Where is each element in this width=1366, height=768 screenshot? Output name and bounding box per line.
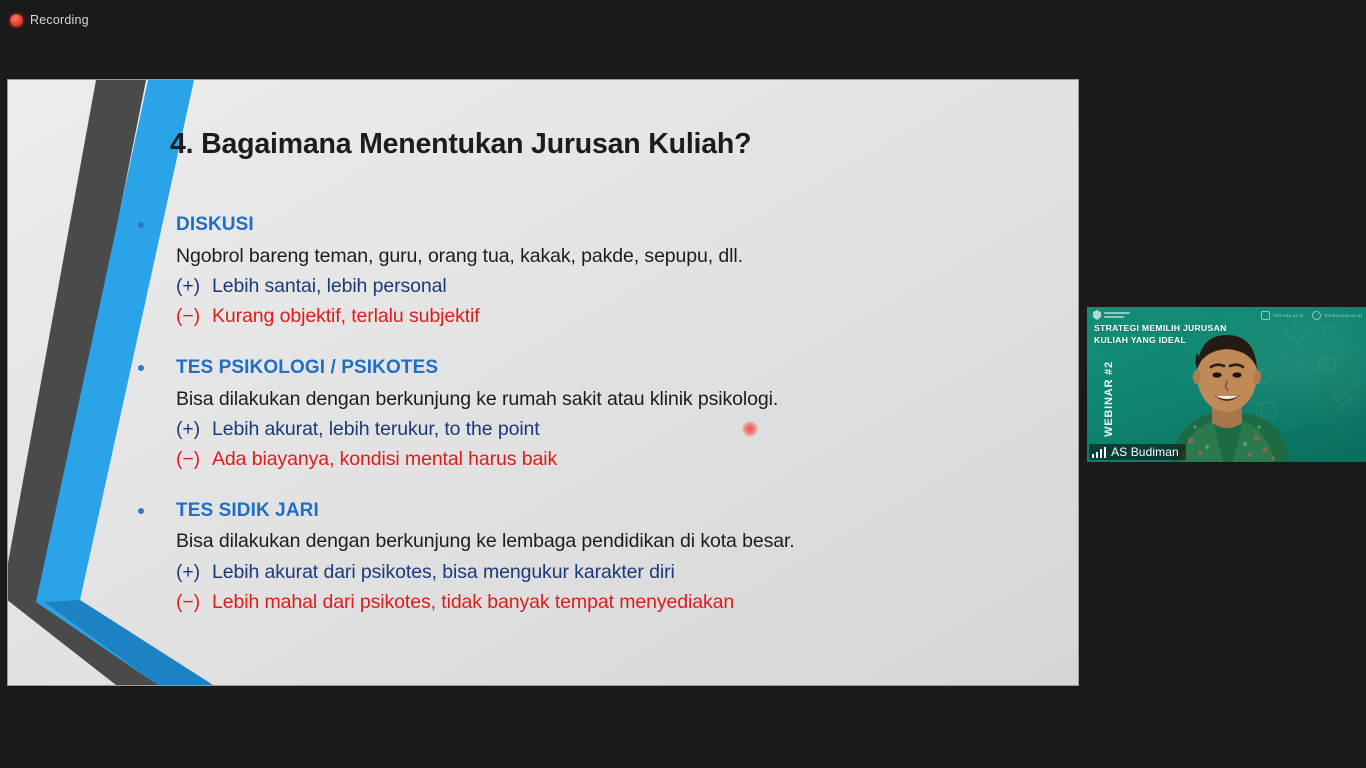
topic-heading: DISKUSI: [176, 212, 1052, 238]
pro-sign: (+): [176, 414, 212, 444]
topic-con: (−) Lebih mahal dari psikotes, tidak ban…: [176, 587, 1052, 617]
recording-indicator: Recording: [10, 10, 89, 30]
pro-sign: (+): [176, 271, 212, 301]
con-sign: (−): [176, 587, 212, 617]
con-text: Kurang objektif, terlalu subjektif: [212, 301, 480, 331]
con-text: Lebih mahal dari psikotes, tidak banyak …: [212, 587, 734, 617]
pro-text: Lebih akurat, lebih terukur, to the poin…: [212, 414, 540, 444]
con-text: Ada biayanya, kondisi mental harus baik: [212, 444, 557, 474]
participant-figure: [1087, 307, 1366, 462]
participant-name: AS Budiman: [1111, 445, 1179, 459]
pro-sign: (+): [176, 557, 212, 587]
meeting-window: Recording 4. Bagaimana Menentukan Jurusa…: [0, 0, 1366, 768]
shared-slide: 4. Bagaimana Menentukan Jurusan Kuliah? …: [8, 80, 1078, 685]
topic-con: (−) Kurang objektif, terlalu subjektif: [176, 301, 1052, 331]
con-sign: (−): [176, 444, 212, 474]
pro-text: Lebih akurat dari psikotes, bisa menguku…: [212, 557, 675, 587]
bullet-icon: [138, 222, 144, 228]
signal-bars-icon: [1092, 447, 1106, 458]
topic-con: (−) Ada biayanya, kondisi mental harus b…: [176, 444, 1052, 474]
recording-dot-icon: [10, 14, 23, 27]
topic-block: TES PSIKOLOGI / PSIKOTES Bisa dilakukan …: [130, 355, 1052, 475]
slide-title: 4. Bagaimana Menentukan Jurusan Kuliah?: [170, 128, 751, 161]
bullet-icon: [138, 508, 144, 514]
participant-nameplate: AS Budiman: [1089, 444, 1186, 460]
topic-heading: TES SIDIK JARI: [176, 498, 1052, 524]
topic-description: Ngobrol bareng teman, guru, orang tua, k…: [176, 241, 1052, 271]
topic-description: Bisa dilakukan dengan berkunjung ke lemb…: [176, 526, 1052, 556]
topic-description: Bisa dilakukan dengan berkunjung ke ruma…: [176, 384, 1052, 414]
pro-text: Lebih santai, lebih personal: [212, 271, 447, 301]
con-sign: (−): [176, 301, 212, 331]
topic-block: DISKUSI Ngobrol bareng teman, guru, oran…: [130, 212, 1052, 332]
topic-pro: (+) Lebih akurat, lebih terukur, to the …: [176, 414, 1052, 444]
topic-block: TES SIDIK JARI Bisa dilakukan dengan ber…: [130, 498, 1052, 618]
participant-video-tile[interactable]: info.edu.ac.id trimitra.edu.ac.id STRATE…: [1087, 307, 1366, 462]
laser-pointer-cursor: [742, 421, 758, 437]
topic-pro: (+) Lebih akurat dari psikotes, bisa men…: [176, 557, 1052, 587]
slide-body: DISKUSI Ngobrol bareng teman, guru, oran…: [130, 212, 1052, 641]
bullet-icon: [138, 365, 144, 371]
topic-pro: (+) Lebih santai, lebih personal: [176, 271, 1052, 301]
topic-heading: TES PSIKOLOGI / PSIKOTES: [176, 355, 1052, 381]
recording-label: Recording: [30, 13, 89, 27]
